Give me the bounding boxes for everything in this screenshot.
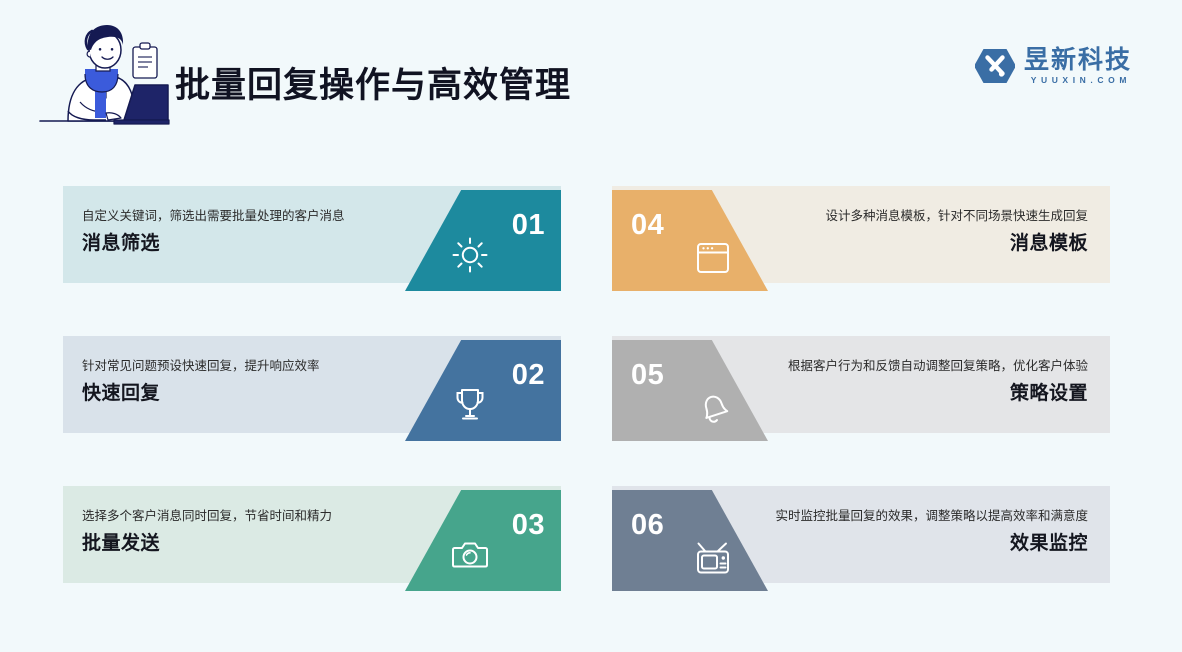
header: 批量回复操作与高效管理 昱新科技 YUUXIN.COM [0, 0, 1182, 150]
feature-card-05[interactable]: 05 根据客户行为和反馈自动调整回复策略，优化客户体验策略设置 [612, 336, 1110, 436]
camera-icon [451, 536, 489, 574]
card-number: 01 [512, 211, 545, 240]
feature-card-03[interactable]: 03 选择多个客户消息同时回复，节省时间和精力批量发送 [63, 486, 561, 586]
card-text-block: 针对常见问题预设快速回复，提升响应效率快速回复 [82, 356, 422, 406]
card-number: 05 [631, 361, 664, 390]
card-description: 根据客户行为和反馈自动调整回复策略，优化客户体验 [748, 356, 1088, 376]
page-title: 批量回复操作与高效管理 [175, 68, 571, 103]
feature-card-06[interactable]: 06 实时监控批量回复的效果，调整策略以提高效率和满意度效果监控 [612, 486, 1110, 586]
brand-logo: 昱新科技 YUUXIN.COM [975, 44, 1132, 88]
card-title: 效果监控 [748, 533, 1088, 556]
brand-domain: YUUXIN.COM [1024, 75, 1132, 85]
tv-icon [694, 539, 732, 577]
card-description: 设计多种消息模板，针对不同场景快速生成回复 [748, 206, 1088, 226]
card-number: 06 [631, 511, 664, 540]
brand-text: 昱新科技 YUUXIN.COM [1024, 47, 1132, 84]
card-description: 针对常见问题预设快速回复，提升响应效率 [82, 356, 422, 376]
card-title: 消息筛选 [82, 233, 422, 256]
infographic-page: 批量回复操作与高效管理 昱新科技 YUUXIN.COM 01 [0, 0, 1182, 652]
bell-icon [694, 389, 732, 427]
card-title: 消息模板 [748, 233, 1088, 256]
feature-card-02[interactable]: 02 针对常见问题预设快速回复，提升响应效率快速回复 [63, 336, 561, 436]
card-text-block: 实时监控批量回复的效果，调整策略以提高效率和满意度效果监控 [748, 506, 1088, 556]
card-text-block: 选择多个客户消息同时回复，节省时间和精力批量发送 [82, 506, 422, 556]
card-number: 02 [512, 361, 545, 390]
sun-icon [451, 236, 489, 274]
brand-name: 昱新科技 [1024, 47, 1132, 73]
card-text-block: 根据客户行为和反馈自动调整回复策略，优化客户体验策略设置 [748, 356, 1088, 406]
card-description: 自定义关键词，筛选出需要批量处理的客户消息 [82, 206, 422, 226]
person-at-laptop-illustration [28, 14, 188, 134]
card-number: 03 [512, 511, 545, 540]
hexagon-x-logo-icon [975, 44, 1015, 88]
card-text-block: 自定义关键词，筛选出需要批量处理的客户消息消息筛选 [82, 206, 422, 256]
browser-window-icon [694, 239, 732, 277]
feature-card-01[interactable]: 01 自定义关键词，筛选出需要批量处理的客户消息消息筛选 [63, 186, 561, 286]
card-number: 04 [631, 211, 664, 240]
card-description: 实时监控批量回复的效果，调整策略以提高效率和满意度 [748, 506, 1088, 526]
card-description: 选择多个客户消息同时回复，节省时间和精力 [82, 506, 422, 526]
feature-card-04[interactable]: 04 设计多种消息模板，针对不同场景快速生成回复消息模板 [612, 186, 1110, 286]
card-text-block: 设计多种消息模板，针对不同场景快速生成回复消息模板 [748, 206, 1088, 256]
card-title: 快速回复 [82, 383, 422, 406]
trophy-icon [451, 386, 489, 424]
card-title: 批量发送 [82, 533, 422, 556]
card-title: 策略设置 [748, 383, 1088, 406]
